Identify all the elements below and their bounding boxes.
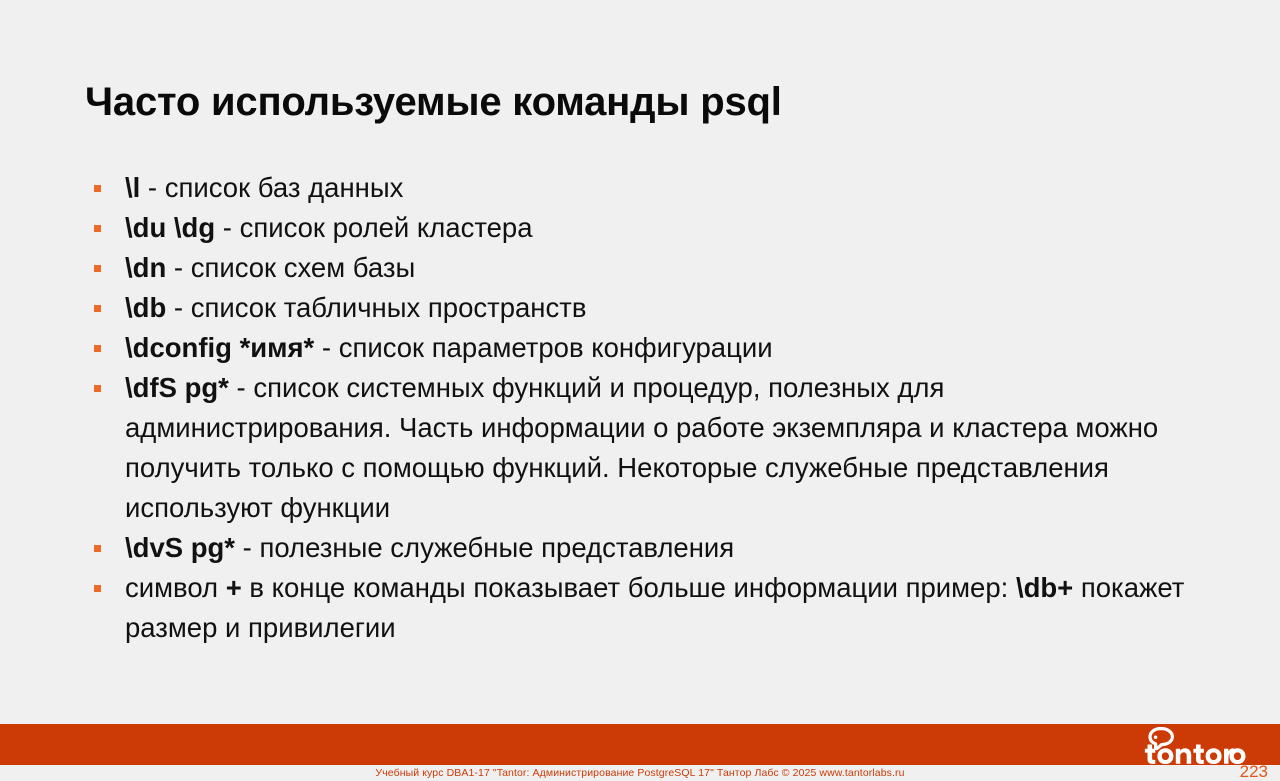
command-name: \du \dg [125,212,215,243]
command-prefix: символ [125,572,226,603]
command-description: - список табличных пространств [166,292,586,323]
list-item: \l - список баз данных [85,168,1185,208]
command-name: \dn [125,252,166,283]
list-item: \dvS pg* - полезные служебные представле… [85,528,1185,568]
command-description: - полезные служебные представления [235,532,734,563]
list-item: \du \dg - список ролей кластера [85,208,1185,248]
command-name: \dfS pg* [125,372,229,403]
list-item: \dn - список схем базы [85,248,1185,288]
list-item: \dconfig *имя* - список параметров конфи… [85,328,1185,368]
command-description: - список системных функций и процедур, п… [125,372,1158,523]
command-name: + [226,572,242,603]
command-name: \dconfig *имя* [125,332,314,363]
command-description: - список баз данных [140,172,403,203]
command-list: \l - список баз данных \du \dg - список … [85,168,1185,648]
command-name-secondary: \db+ [1016,572,1073,603]
page-title: Часто используемые команды psql [85,79,782,125]
list-item: \db - список табличных пространств [85,288,1185,328]
page-number: 223 [1240,763,1268,781]
command-description: - список схем базы [166,252,415,283]
command-description: - список параметров конфигурации [314,332,772,363]
tantor-logo [1142,726,1254,764]
slide-canvas: Часто используемые команды psql \l - спи… [0,0,1280,781]
command-name: \dvS pg* [125,532,235,563]
command-description: в конце команды показывает больше информ… [242,572,1016,603]
footer-accent-bar [0,724,1280,765]
footer-credit: Учебный курс DBA1-17 "Tantor: Администри… [0,765,1280,781]
command-name: \db [125,292,166,323]
command-description: - список ролей кластера [215,212,532,243]
command-name: \l [125,172,140,203]
list-item: символ + в конце команды показывает боль… [85,568,1185,648]
list-item: \dfS pg* - список системных функций и пр… [85,368,1185,528]
